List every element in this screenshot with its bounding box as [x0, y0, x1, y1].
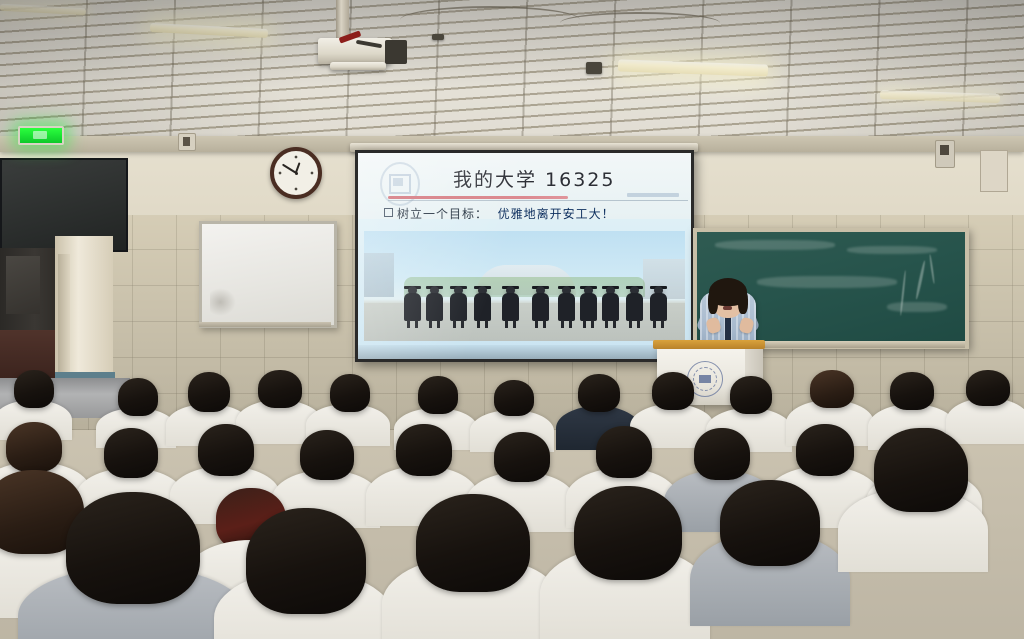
- wall-sensor-right-icon: [935, 140, 955, 168]
- chalk-streak: [929, 254, 935, 284]
- slide-graduation-photo: [364, 231, 685, 341]
- chalk-streak: [915, 260, 926, 300]
- student-head: [330, 374, 370, 412]
- slide-corner-text: [627, 193, 679, 197]
- photo-building-left: [364, 253, 394, 297]
- slide-title-underline: [388, 196, 568, 199]
- slide-subtitle-highlight: 优雅地离开安工大！: [498, 207, 615, 221]
- student-head: [796, 424, 854, 476]
- student-head: [14, 370, 54, 408]
- student-head: [596, 426, 652, 478]
- student-head: [188, 372, 230, 412]
- student-head-near: [246, 508, 366, 614]
- student-head-phone-user: [874, 428, 968, 512]
- chalk-smudge: [715, 240, 835, 250]
- whiteboard-marker-tray: [199, 322, 331, 327]
- student-head: [890, 372, 934, 410]
- ceiling-speaker-1: [586, 62, 602, 74]
- student-head: [6, 422, 62, 472]
- clock-center-pin: [295, 172, 298, 175]
- student-head: [966, 370, 1010, 406]
- student-head: [418, 376, 458, 414]
- slide-subtitle-lead: 树立一个目标：: [397, 207, 488, 221]
- projector-lens-housing: [385, 40, 407, 64]
- wall-clock: [270, 147, 322, 199]
- student-head: [258, 370, 302, 408]
- lectern-top-edge: [653, 340, 765, 349]
- slide-subtitle: 树立一个目标： 优雅地离开安工大！: [384, 205, 615, 222]
- chalk-smudge: [887, 302, 947, 312]
- whiteboard: [199, 221, 337, 328]
- projector-base: [330, 62, 386, 70]
- student-head: [118, 378, 158, 416]
- student-head-near: [66, 492, 200, 604]
- student-head-near: [720, 480, 820, 566]
- ceiling-cable-2: [560, 12, 720, 34]
- student-head: [104, 428, 158, 478]
- slide-title: 我的大学 16325: [453, 165, 683, 192]
- student-head: [578, 374, 620, 412]
- wall-box-right: [980, 150, 1008, 192]
- slide-bullet-icon: [384, 208, 393, 217]
- slide-title-underline-thin: [388, 200, 688, 201]
- student-head: [652, 372, 694, 410]
- slide-bottom-shading: [358, 345, 691, 359]
- student-head: [810, 370, 854, 408]
- wall-sensor-icon: [178, 133, 196, 151]
- student-head: [730, 376, 772, 414]
- lecture-hall-photo: 我的大学 16325 树立一个目标： 优雅地离开安工大！: [0, 0, 1024, 639]
- student-head-near: [574, 486, 682, 580]
- student-head: [198, 424, 254, 476]
- student-head: [494, 380, 534, 416]
- student-head: [396, 424, 452, 476]
- audience-area: [0, 370, 1024, 639]
- student-head: [494, 432, 550, 482]
- student-head: [694, 428, 750, 480]
- exit-sign-icon: [18, 126, 64, 145]
- chalk-smudge: [847, 246, 937, 254]
- student-head: [300, 430, 354, 480]
- whiteboard-smudge: [210, 288, 236, 316]
- speaker-mouth: [723, 306, 732, 310]
- speaker-hair-left: [708, 290, 718, 314]
- student-head-near: [416, 494, 530, 592]
- ceiling-cable-1: [400, 6, 580, 34]
- chalk-smudge: [757, 276, 897, 288]
- projected-slide: 我的大学 16325 树立一个目标： 优雅地离开安工大！: [358, 153, 691, 359]
- door-window: [6, 256, 40, 314]
- ceiling-vent: [432, 34, 444, 40]
- projection-screen: 我的大学 16325 树立一个目标： 优雅地离开安工大！: [355, 150, 694, 362]
- speaker-hair-right: [738, 290, 748, 314]
